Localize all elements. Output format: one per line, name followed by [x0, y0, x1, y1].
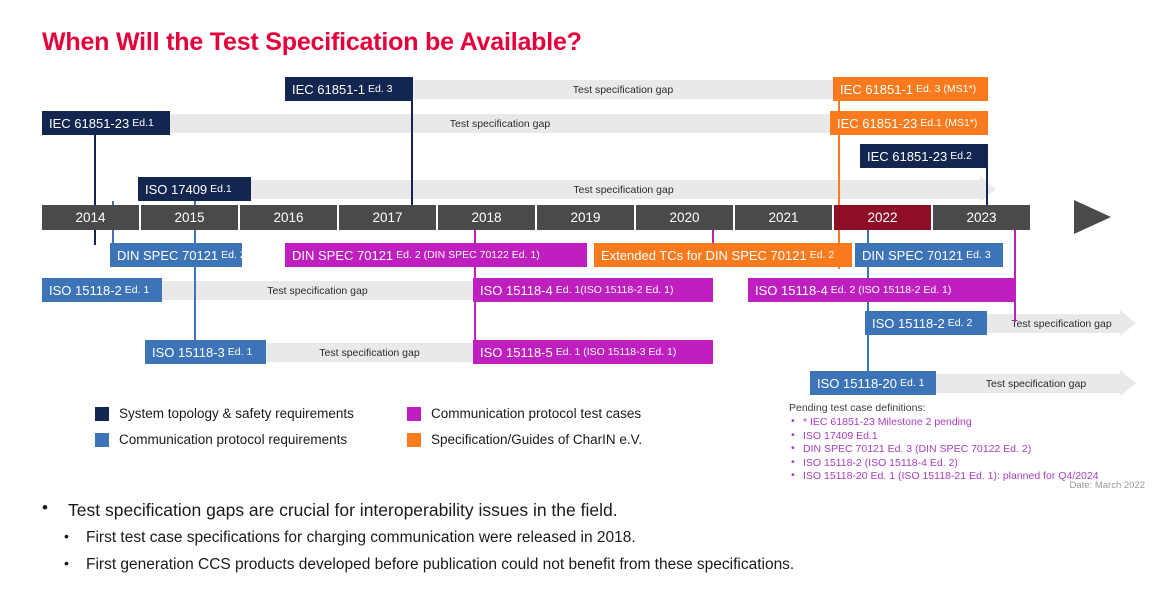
bar-title: DIN SPEC 70121 — [862, 248, 963, 263]
bar-edition: Ed. 2 (DIN SPEC 70122 Ed. 1) — [396, 249, 540, 261]
gap-iso-15118-2-2: Test specification gap — [987, 314, 1136, 333]
bar-edition: Ed. 1 — [228, 346, 253, 358]
gap-label: Test specification gap — [319, 347, 419, 359]
gap-label: Test specification gap — [450, 118, 550, 130]
bar-iso-15118-5-ed1[interactable]: ISO 15118-5Ed. 1 (ISO 15118-3 Ed. 1) — [473, 340, 713, 364]
bar-title: Extended TCs for DIN SPEC 70121 — [601, 248, 807, 263]
vline-iso-15118-4-ed2 — [1014, 226, 1016, 322]
bar-iec-61851-23-ed1[interactable]: IEC 61851-23Ed.1 — [42, 111, 170, 135]
bar-title: IEC 61851-1 — [292, 82, 365, 97]
bar-iec-61851-23-ed1-ms1[interactable]: IEC 61851-23Ed.1 (MS1*) — [830, 111, 988, 135]
bar-iso-15118-20-ed1[interactable]: ISO 15118-20Ed. 1 — [810, 371, 936, 395]
gap-arrow-icon — [1120, 310, 1136, 336]
pending-item: ISO 17409 Ed.1 — [789, 430, 1149, 444]
axis-arrow-icon — [1074, 200, 1111, 234]
bar-title: IEC 61851-23 — [49, 116, 129, 131]
bar-edition: Ed.1 — [132, 117, 154, 129]
date-stamp: Date: March 2022 — [1069, 480, 1145, 491]
bar-iso-15118-4-ed1[interactable]: ISO 15118-4Ed. 1(ISO 15118-2 Ed. 1) — [473, 278, 713, 302]
gap-label: Test specification gap — [573, 84, 673, 96]
pending-item: DIN SPEC 70121 Ed. 3 (DIN SPEC 70122 Ed.… — [789, 443, 1149, 457]
bar-din-spec-70121-ed3[interactable]: DIN SPEC 70121Ed. 3 — [855, 243, 1003, 267]
bar-title: ISO 15118-4 — [755, 283, 828, 298]
bar-title: ISO 15118-5 — [480, 345, 553, 360]
bar-title: IEC 61851-1 — [840, 82, 913, 97]
pending-list: * IEC 61851-23 Milestone 2 pendingISO 17… — [789, 416, 1149, 484]
pending-definitions-panel: Pending test case definitions: * IEC 618… — [789, 402, 1149, 484]
legend-comm-test-cases: Communication protocol test cases — [407, 406, 641, 421]
bar-edition: Ed. 3 (MS1*) — [916, 83, 976, 95]
gap-label: Test specification gap — [267, 285, 367, 297]
summary-bullet: Test specification gaps are crucial for … — [30, 500, 1120, 521]
gap-label: Test specification gap — [573, 184, 673, 196]
year-cell-2022[interactable]: 2022 — [834, 205, 931, 230]
pending-item: ISO 15118-2 (ISO 15118-4 Ed. 2) — [789, 457, 1149, 471]
page-title: When Will the Test Specification be Avai… — [42, 28, 582, 57]
bar-title: ISO 15118-3 — [152, 345, 225, 360]
year-cell-2015[interactable]: 2015 — [141, 205, 238, 230]
legend-system-topology: System topology & safety requirements — [95, 406, 354, 421]
gap-iso-15118-3: Test specification gap — [266, 343, 473, 362]
bar-iso-17409-ed1[interactable]: ISO 17409Ed.1 — [138, 177, 251, 201]
bar-edition: Ed. 1 — [900, 377, 925, 389]
gap-iec-61851-1: Test specification gap — [413, 80, 833, 99]
year-cell-2020[interactable]: 2020 — [636, 205, 733, 230]
bar-title: DIN SPEC 70121 — [117, 248, 218, 263]
bar-edition: Ed.1 (MS1*) — [920, 117, 977, 129]
gap-arrow-icon — [980, 176, 996, 202]
bar-edition: Ed. 1 — [125, 284, 150, 296]
gap-arrow-icon — [1120, 370, 1136, 396]
bar-edition: Ed. 2 — [810, 249, 835, 261]
legend-label: Communication protocol test cases — [431, 406, 641, 421]
bar-title: ISO 17409 — [145, 182, 207, 197]
year-cell-2017[interactable]: 2017 — [339, 205, 436, 230]
bar-title: ISO 15118-20 — [817, 376, 897, 391]
bar-title: ISO 15118-2 — [872, 316, 945, 331]
bar-din-spec-70121-ed2[interactable]: DIN SPEC 70121Ed. 2 — [110, 243, 242, 267]
legend-swatch-icon — [95, 433, 109, 447]
bar-title: DIN SPEC 70121 — [292, 248, 393, 263]
bar-iso-15118-2-ed2[interactable]: ISO 15118-2Ed. 2 — [865, 311, 987, 335]
gap-label: Test specification gap — [986, 378, 1086, 390]
bar-title: IEC 61851-23 — [867, 149, 947, 164]
bar-edition: Ed. 1(ISO 15118-2 Ed. 1) — [556, 284, 674, 296]
bar-iec-61851-1-ed3[interactable]: IEC 61851-1Ed. 3 — [285, 77, 413, 101]
year-cell-2014[interactable]: 2014 — [42, 205, 139, 230]
pending-item: * IEC 61851-23 Milestone 2 pending — [789, 416, 1149, 430]
bar-title: IEC 61851-23 — [837, 116, 917, 131]
bar-title: ISO 15118-2 — [49, 283, 122, 298]
gap-iso-15118-2: Test specification gap — [162, 281, 473, 300]
bar-iec-61851-23-ed2[interactable]: IEC 61851-23Ed.2 — [860, 144, 988, 168]
bar-edition: Ed. 2 (ISO 15118-2 Ed. 1) — [831, 284, 952, 296]
bar-edition: Ed.2 — [950, 150, 972, 162]
pending-heading: Pending test case definitions: — [789, 402, 1149, 414]
slide-canvas: When Will the Test Specification be Avai… — [0, 0, 1153, 601]
bar-edition: Ed. 3 — [966, 249, 991, 261]
year-cell-2023[interactable]: 2023 — [933, 205, 1030, 230]
bar-edition: Ed. 1 (ISO 15118-3 Ed. 1) — [556, 346, 677, 358]
legend-label: System topology & safety requirements — [119, 406, 354, 421]
bar-edition: Ed. 2 — [948, 317, 973, 329]
summary-bullet: First generation CCS products developed … — [30, 556, 1120, 574]
bar-extended-tcs-din-70121[interactable]: Extended TCs for DIN SPEC 70121Ed. 2 — [594, 243, 852, 267]
legend-swatch-icon — [407, 433, 421, 447]
vline-iec-61851-1-ed3 — [411, 101, 413, 209]
year-cell-2019[interactable]: 2019 — [537, 205, 634, 230]
legend-label: Communication protocol requirements — [119, 432, 347, 447]
legend-swatch-icon — [407, 407, 421, 421]
gap-iso-17409: Test specification gap — [251, 180, 996, 199]
bar-din-spec-70121-ed2-tc[interactable]: DIN SPEC 70121Ed. 2 (DIN SPEC 70122 Ed. … — [285, 243, 587, 267]
year-cell-2016[interactable]: 2016 — [240, 205, 337, 230]
gap-iso-15118-20: Test specification gap — [936, 374, 1136, 393]
bar-edition: Ed. 2 — [221, 249, 246, 261]
bar-iso-15118-4-ed2[interactable]: ISO 15118-4Ed. 2 (ISO 15118-2 Ed. 1) — [748, 278, 1016, 302]
bar-iso-15118-2-ed1[interactable]: ISO 15118-2Ed. 1 — [42, 278, 162, 302]
year-cell-2021[interactable]: 2021 — [735, 205, 832, 230]
year-cell-2018[interactable]: 2018 — [438, 205, 535, 230]
bar-title: ISO 15118-4 — [480, 283, 553, 298]
legend-comm-protocol-req: Communication protocol requirements — [95, 432, 347, 447]
bar-iso-15118-3-ed1[interactable]: ISO 15118-3Ed. 1 — [145, 340, 266, 364]
summary-bullet: First test case specifications for charg… — [30, 529, 1120, 547]
legend-charin-specs: Specification/Guides of CharIN e.V. — [407, 432, 642, 447]
bar-iec-61851-1-ed3-ms1[interactable]: IEC 61851-1Ed. 3 (MS1*) — [833, 77, 988, 101]
summary-bullets: Test specification gaps are crucial for … — [30, 500, 1120, 583]
legend-swatch-icon — [95, 407, 109, 421]
bar-edition: Ed.1 — [210, 183, 232, 195]
bar-edition: Ed. 3 — [368, 83, 393, 95]
legend-label: Specification/Guides of CharIN e.V. — [431, 432, 642, 447]
gap-label: Test specification gap — [1011, 318, 1111, 330]
gap-iec-61851-23: Test specification gap — [170, 114, 830, 133]
